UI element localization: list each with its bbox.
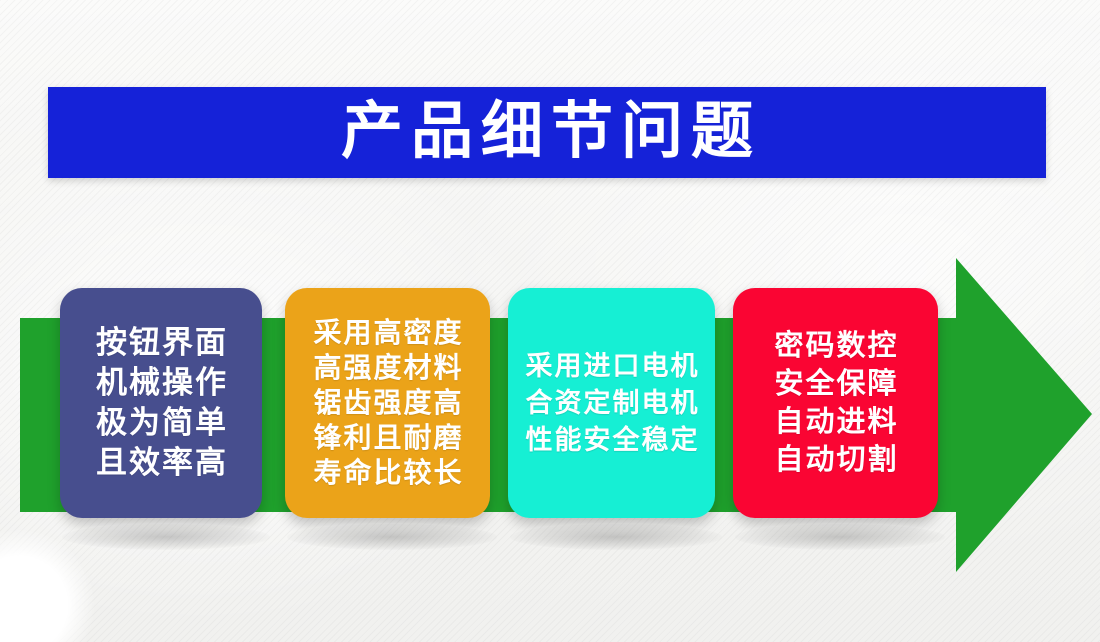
feature-card-1-line: 且效率高 [94,443,228,483]
feature-card-3-line: 性能安全稳定 [524,422,700,459]
feature-card-1[interactable]: 按钮界面 机械操作 极为简单 且效率高 [60,288,262,518]
feature-card-4-line: 自动切割 [772,441,898,479]
feature-card-1-line: 按钮界面 [94,323,228,363]
feature-card-1-line: 机械操作 [94,363,228,403]
feature-card-2-line: 高强度材料 [311,351,463,386]
feature-card-2[interactable]: 采用高密度 高强度材料 锯齿强度高 锋利且耐磨 寿命比较长 [285,288,490,518]
feature-card-3-line: 采用进口电机 [524,348,700,385]
feature-card-4[interactable]: 密码数控 安全保障 自动进料 自动切割 [733,288,938,518]
feature-card-3-line: 合资定制电机 [524,385,700,422]
slide-title: 产品细节问题 [48,100,1046,162]
title-banner: 产品细节问题 [48,87,1046,178]
feature-card-2-line: 锯齿强度高 [311,386,463,421]
feature-card-4-line: 密码数控 [772,327,898,365]
feature-card-3[interactable]: 采用进口电机 合资定制电机 性能安全稳定 [508,288,715,518]
feature-card-1-line: 极为简单 [94,403,228,443]
feature-card-2-line: 采用高密度 [311,316,463,351]
feature-card-2-line: 寿命比较长 [311,456,463,491]
feature-card-4-line: 安全保障 [772,365,898,403]
feature-card-4-line: 自动进料 [772,403,898,441]
feature-card-2-line: 锋利且耐磨 [311,421,463,456]
slide-canvas: 产品细节问题 按钮界面 机械操作 极为简单 且效率高 采用高密度 高强度材料 锯… [0,0,1100,642]
